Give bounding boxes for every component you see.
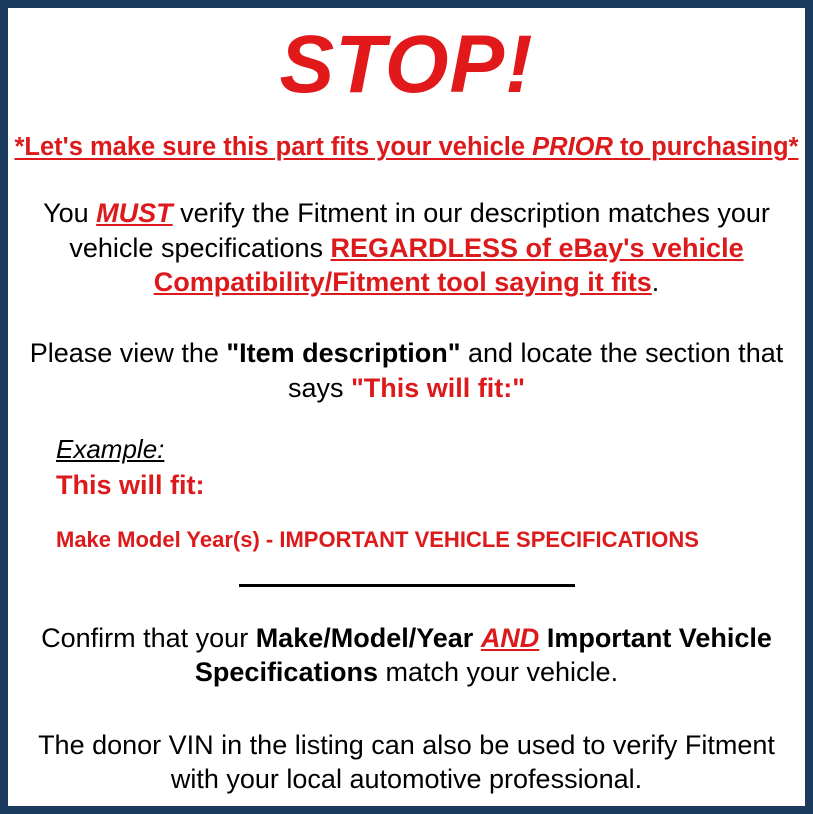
example-fit-header: This will fit: (56, 465, 805, 501)
horizontal-divider (239, 584, 575, 587)
must-seg1: You (43, 198, 96, 228)
subtitle-text-before: *Let's make sure this part fits your veh… (14, 133, 532, 161)
notice-inner: STOP! *Let's make sure this part fits yo… (8, 8, 805, 806)
donor-vin-paragraph: The donor VIN in the listing can also be… (8, 690, 805, 797)
thank-you-line: Thank you for confirming Fitment! (8, 797, 805, 814)
must-verify-paragraph: You MUST verify the Fitment in our descr… (8, 162, 805, 300)
confirm-seg1: Confirm that your (41, 623, 256, 653)
example-block: Example: This will fit: Make Model Year(… (8, 405, 805, 554)
example-label-row: Example: (56, 435, 805, 465)
make-model-year-emphasis: Make/Model/Year (256, 623, 474, 653)
itemdesc-seg1: Please view the (30, 338, 227, 368)
and-emphasis: AND (481, 623, 540, 653)
item-description-paragraph: Please view the "Item description" and l… (8, 300, 805, 405)
subtitle-prior-emphasis: PRIOR (532, 133, 613, 161)
fitment-notice-card: STOP! *Let's make sure this part fits yo… (0, 0, 813, 814)
must-seg3: . (652, 267, 660, 297)
divider-wrap (8, 554, 805, 587)
confirm-paragraph: Confirm that your Make/Model/Year AND Im… (8, 587, 805, 690)
subtitle-line: *Let's make sure this part fits your veh… (8, 106, 805, 162)
item-description-quote: "Item description" (226, 338, 460, 368)
example-label: Example: (56, 435, 164, 465)
stop-heading: STOP! (8, 8, 805, 106)
subtitle-text-after: to purchasing* (613, 133, 799, 161)
confirm-space-1 (473, 623, 481, 653)
must-emphasis: MUST (96, 198, 173, 228)
confirm-seg3: match your vehicle. (378, 657, 618, 687)
example-spec-line: Make Model Year(s) - IMPORTANT VEHICLE S… (56, 501, 805, 553)
this-will-fit-quote: "This will fit:" (351, 373, 525, 403)
